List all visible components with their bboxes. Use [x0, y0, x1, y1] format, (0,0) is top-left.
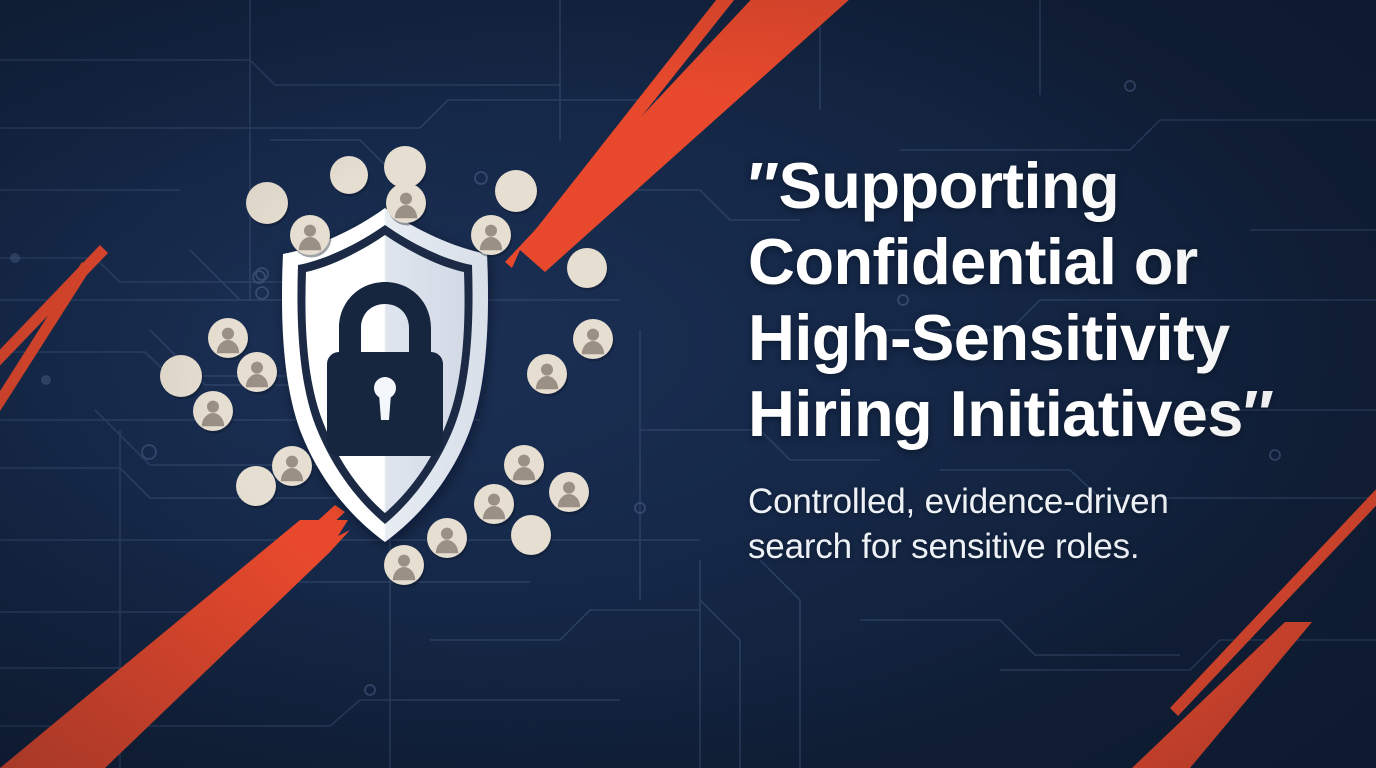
avatar — [246, 182, 290, 227]
subhead-line-0: Controlled, evidence-driven — [748, 480, 1318, 525]
avatar — [208, 318, 250, 361]
person-icon-head — [207, 401, 219, 413]
avatar — [573, 319, 615, 362]
person-icon-head — [488, 494, 500, 506]
person-icon-head — [304, 225, 316, 237]
avatar — [527, 354, 569, 397]
person-icon-head — [251, 362, 263, 374]
person-icon-head — [222, 328, 234, 340]
person-icon-head — [587, 329, 599, 341]
headline-line-3: Hiring Initiatives″ — [748, 376, 1318, 452]
avatar — [549, 472, 591, 515]
slide-canvas: ″SupportingConfidential orHigh-Sensitivi… — [0, 0, 1376, 768]
avatar — [384, 545, 426, 588]
avatar — [567, 248, 609, 291]
avatar — [511, 515, 553, 558]
avatar — [193, 391, 235, 434]
avatar — [386, 183, 428, 226]
avatar — [290, 215, 332, 258]
avatar — [236, 466, 278, 509]
subtitle: Controlled, evidence-drivensearch for se… — [748, 480, 1318, 570]
person-icon-head — [518, 455, 530, 467]
avatar — [504, 445, 546, 488]
person-icon-head — [441, 528, 453, 540]
person-icon-head — [400, 193, 412, 205]
avatar — [471, 215, 513, 258]
person-icon-head — [286, 456, 298, 468]
headline-line-0: ″Supporting — [748, 148, 1318, 224]
avatar — [427, 518, 469, 561]
avatar — [237, 352, 279, 395]
avatar — [160, 355, 204, 400]
person-icon-head — [485, 225, 497, 237]
person-icon-head — [398, 555, 410, 567]
avatar — [474, 484, 516, 527]
person-icon-head — [541, 364, 553, 376]
text-block: ″SupportingConfidential orHigh-Sensitivi… — [748, 148, 1318, 570]
avatar — [495, 170, 539, 215]
avatar — [272, 446, 314, 489]
headline-line-2: High-Sensitivity — [748, 300, 1318, 376]
subhead-line-1: search for sensitive roles. — [748, 525, 1318, 570]
page-title: ″SupportingConfidential orHigh-Sensitivi… — [748, 148, 1318, 452]
person-icon-head — [563, 482, 575, 494]
avatar — [330, 156, 370, 197]
headline-line-1: Confidential or — [748, 224, 1318, 300]
